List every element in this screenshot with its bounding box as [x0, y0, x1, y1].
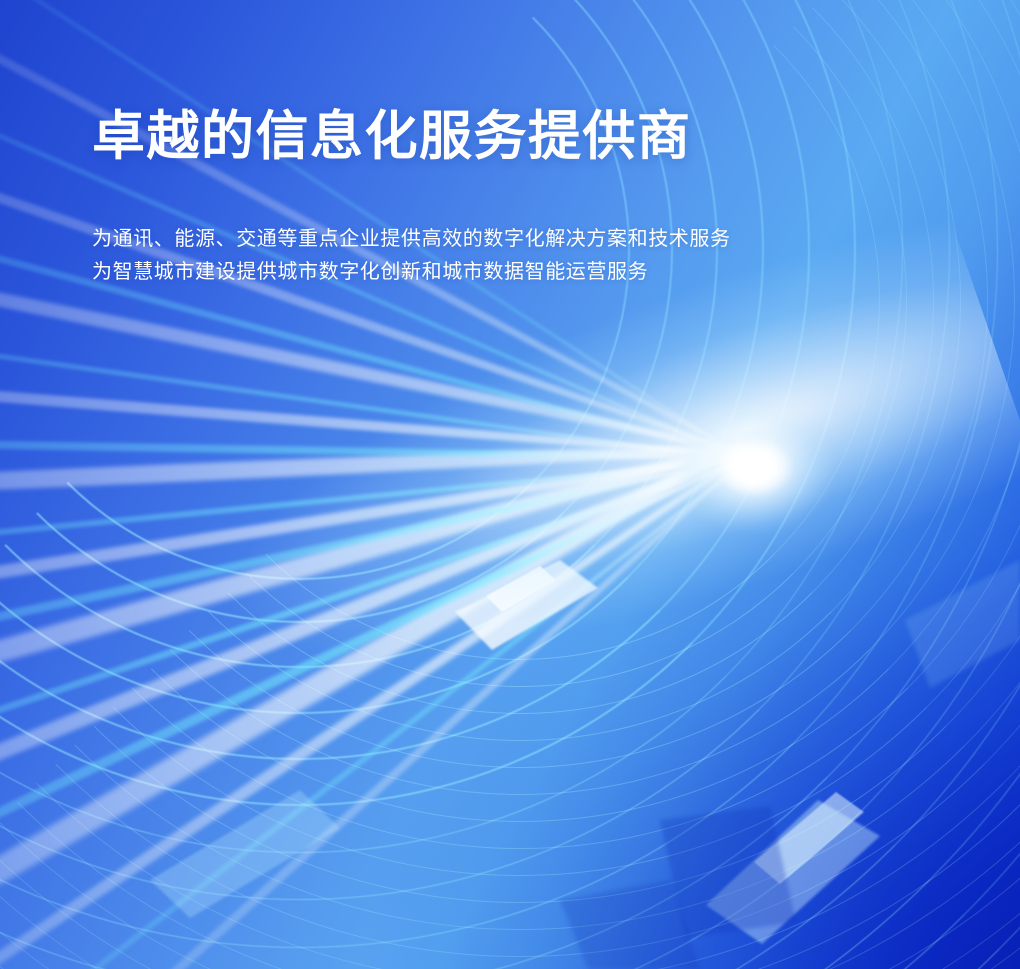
subtitle-line-2: 为智慧城市建设提供城市数字化创新和城市数据智能运营服务	[92, 256, 952, 289]
page-title: 卓越的信息化服务提供商	[92, 104, 952, 170]
ribbon-plate-lower-left	[150, 790, 340, 918]
hero-banner: 卓越的信息化服务提供商 为通讯、能源、交通等重点企业提供高效的数字化解决方案和技…	[0, 0, 1020, 969]
ribbon-plate-far-right	[905, 560, 1020, 688]
subtitle-group: 为通讯、能源、交通等重点企业提供高效的数字化解决方案和技术服务 为智慧城市建设提…	[92, 223, 952, 289]
banner-content: 卓越的信息化服务提供商 为通讯、能源、交通等重点企业提供高效的数字化解决方案和技…	[92, 104, 952, 289]
subtitle-line-1: 为通讯、能源、交通等重点企业提供高效的数字化解决方案和技术服务	[92, 223, 952, 256]
vanishing-point-core	[700, 424, 810, 510]
